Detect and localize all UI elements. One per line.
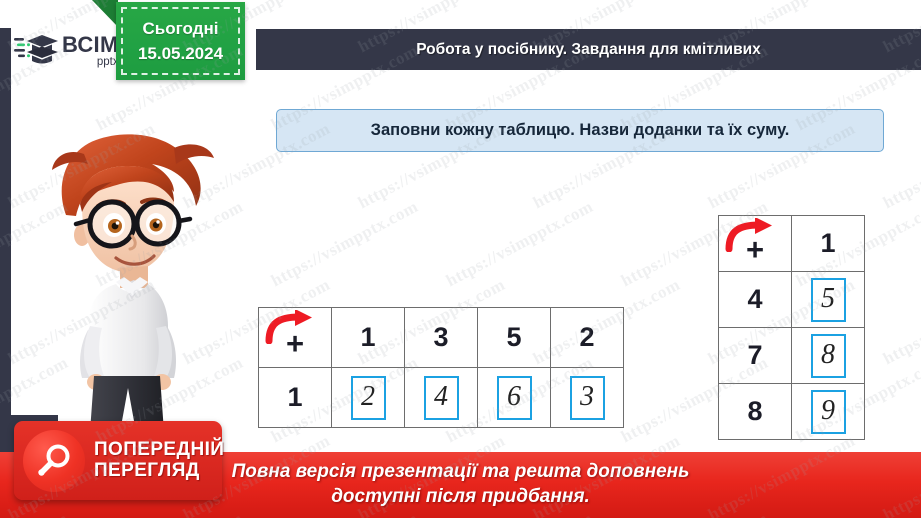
plus-sign: + <box>746 232 764 267</box>
header-cell: 3 <box>405 308 478 368</box>
preview-badge-text: ПОПЕРЕДНІЙ ПЕРЕГЛЯД <box>94 440 224 480</box>
plus-sign: + <box>286 326 304 361</box>
addend-cell: 8 <box>719 384 792 440</box>
preview-badge-line2: ПЕРЕГЛЯД <box>94 461 224 481</box>
answer-box: 3 <box>570 376 605 420</box>
answer-cell[interactable]: 8 <box>792 328 865 384</box>
operator-cell: + <box>719 216 792 272</box>
answer-box: 9 <box>811 390 846 434</box>
instruction-text: Заповни кожну таблицю. Назви доданки та … <box>371 121 790 140</box>
date-badge-label: Сьогодні <box>143 16 219 42</box>
answer-cell[interactable]: 6 <box>478 368 551 428</box>
header-bar: Робота у посібнику. Завдання для кмітлив… <box>256 29 921 70</box>
addend-cell: 1 <box>259 368 332 428</box>
watermark-text: https://vsimpptx.com <box>268 197 422 291</box>
table-row: 1 2 4 6 3 <box>259 368 624 428</box>
answer-cell[interactable]: 5 <box>792 272 865 328</box>
watermark-text: https://vsimpptx.com <box>443 197 597 291</box>
watermark-text: https://vsimpptx.com <box>880 275 921 369</box>
table-row: 4 5 <box>719 272 865 328</box>
preview-badge[interactable]: ПОПЕРЕДНІЙ ПЕРЕГЛЯД <box>14 421 222 500</box>
magnifier-icon <box>35 442 73 480</box>
date-badge-date: 15.05.2024 <box>138 41 223 67</box>
addend-cell: 7 <box>719 328 792 384</box>
answer-box: 4 <box>424 376 459 420</box>
date-badge: Сьогодні 15.05.2024 <box>116 2 245 80</box>
header-cell: 2 <box>551 308 624 368</box>
table-row: 8 9 <box>719 384 865 440</box>
boy-with-glasses-illustration <box>24 120 224 450</box>
table-row: + 1 <box>719 216 865 272</box>
header-cell: 1 <box>792 216 865 272</box>
header-cell: 5 <box>478 308 551 368</box>
table-row: 7 8 <box>719 328 865 384</box>
header-cell: 1 <box>332 308 405 368</box>
answer-cell[interactable]: 9 <box>792 384 865 440</box>
answer-box: 5 <box>811 278 846 322</box>
instruction-banner: Заповни кожну таблицю. Назви доданки та … <box>276 109 884 152</box>
brand-logo[interactable]: ВСІМ pptx <box>14 28 126 74</box>
table-left: + 1 3 5 2 1 2 4 6 3 <box>258 307 624 428</box>
preview-icon-circle <box>23 430 85 492</box>
addend-cell: 4 <box>719 272 792 328</box>
preview-badge-line1: ПОПЕРЕДНІЙ <box>94 440 224 460</box>
table-right: + 1 4 5 7 8 8 9 <box>718 215 865 440</box>
date-badge-fold <box>92 0 118 27</box>
operator-cell: + <box>259 308 332 368</box>
bottom-banner-line2: доступні після придбання. <box>331 485 590 510</box>
logo-subtitle: pptx <box>62 57 119 69</box>
logo-title: ВСІМ <box>62 34 119 56</box>
answer-box: 8 <box>811 334 846 378</box>
table-row: + 1 3 5 2 <box>259 308 624 368</box>
page-title: Робота у посібнику. Завдання для кмітлив… <box>256 29 921 70</box>
answer-box: 2 <box>351 376 386 420</box>
answer-cell[interactable]: 4 <box>405 368 478 428</box>
bottom-banner-line1: Повна версія презентації та решта доповн… <box>232 460 690 485</box>
answer-cell[interactable]: 2 <box>332 368 405 428</box>
answer-cell[interactable]: 3 <box>551 368 624 428</box>
watermark-text: https://vsimpptx.com <box>880 119 921 213</box>
answer-box: 6 <box>497 376 532 420</box>
slide-canvas: ВСІМ pptx Сьогодні 15.05.2024 Робота у п… <box>0 0 921 518</box>
graduation-cap-icon <box>14 31 60 71</box>
